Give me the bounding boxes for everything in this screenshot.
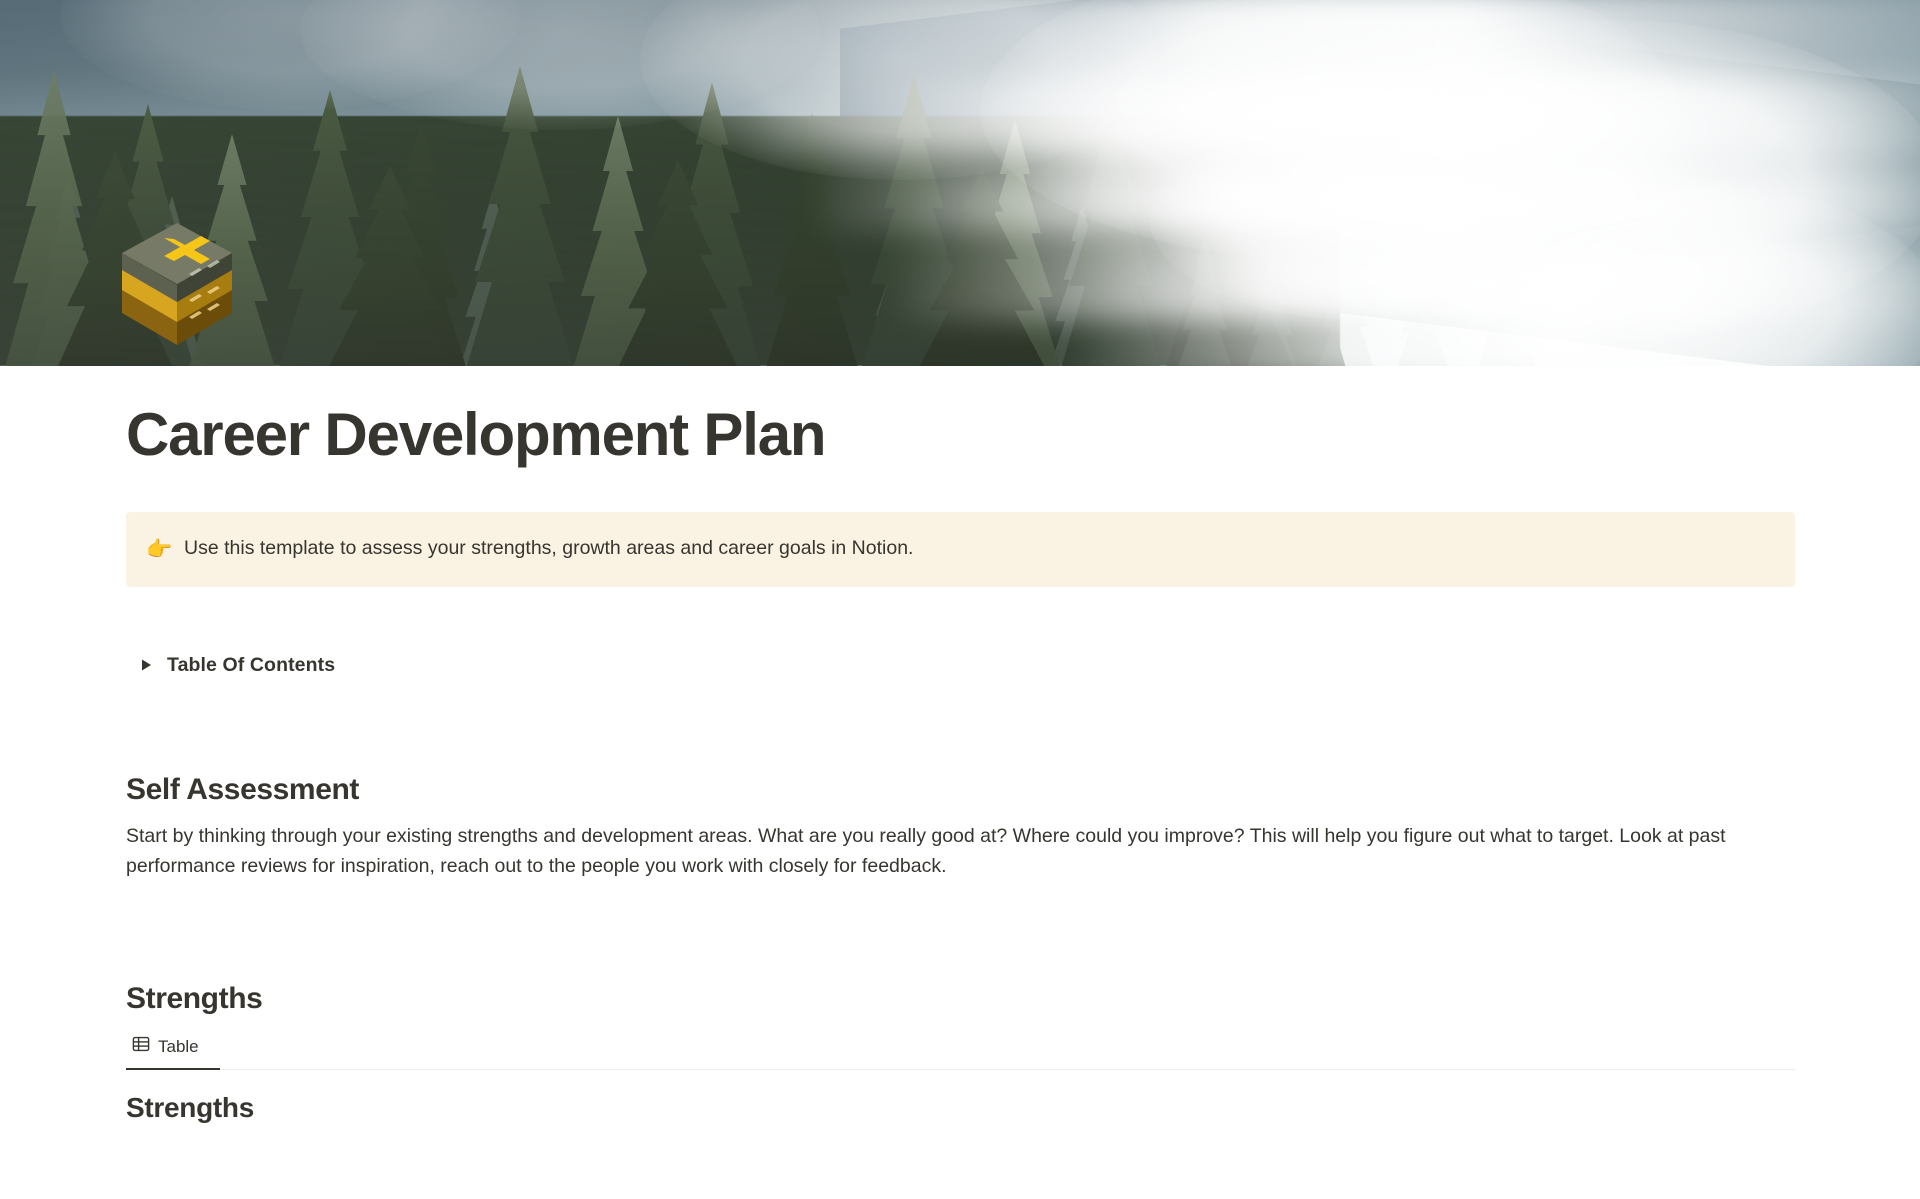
notion-page: Career Development Plan 👉 Use this templ… (0, 0, 1920, 1199)
page-title[interactable]: Career Development Plan (126, 400, 1818, 470)
database-title[interactable]: Strengths (126, 1092, 1818, 1124)
heading-strengths[interactable]: Strengths (126, 982, 1818, 1016)
database-view-tabs: Table (126, 1030, 1795, 1070)
toggle-table-of-contents[interactable]: Table Of Contents (137, 649, 1818, 681)
page-content: Career Development Plan 👉 Use this templ… (0, 366, 1920, 1124)
tab-table-label: Table (158, 1037, 199, 1057)
page-icon[interactable] (119, 222, 235, 348)
pointing-right-hand-emoji: 👉 (146, 534, 170, 566)
callout-text: Use this template to assess your strengt… (184, 534, 913, 563)
table-grid-icon (132, 1035, 150, 1058)
cover-image[interactable] (0, 0, 1920, 366)
heading-self-assessment[interactable]: Self Assessment (126, 773, 1818, 807)
tabs-divider (126, 1069, 1795, 1070)
tab-table-view[interactable]: Table (126, 1030, 205, 1064)
tab-active-underline (126, 1068, 220, 1070)
cover-illustration (0, 0, 1920, 366)
toggle-label: Table Of Contents (167, 654, 335, 677)
callout-block[interactable]: 👉 Use this template to assess your stren… (126, 512, 1795, 588)
triangle-right-icon[interactable] (137, 656, 155, 674)
paragraph-self-assessment[interactable]: Start by thinking through your existing … (126, 821, 1806, 881)
